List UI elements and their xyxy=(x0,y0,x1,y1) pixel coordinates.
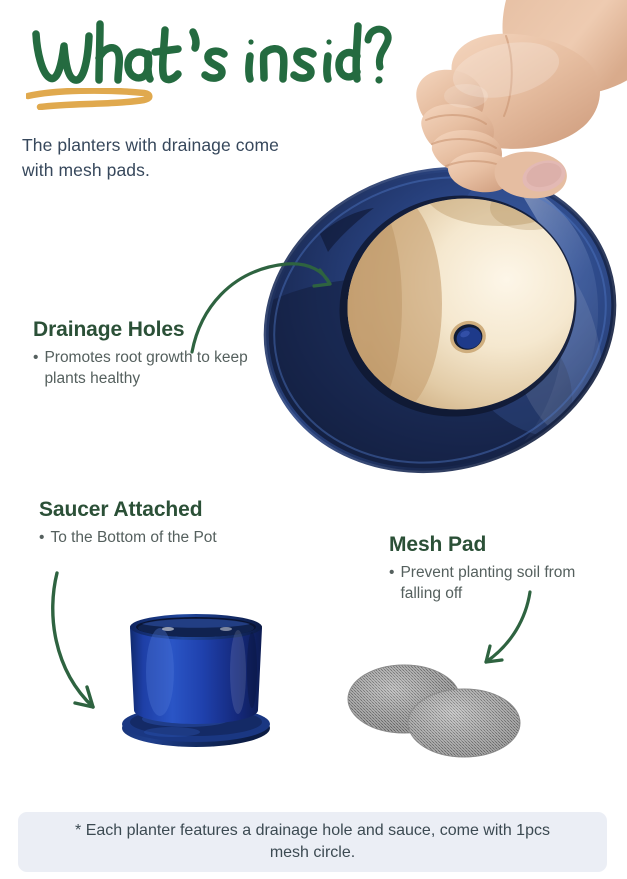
bullet-marker: • xyxy=(33,348,44,390)
bullet-text: Promotes root growth to keep plants heal… xyxy=(44,348,263,390)
subtitle: The planters with drainage come with mes… xyxy=(22,133,292,183)
feature-saucer-attached: Saucer Attached • To the Bottom of the P… xyxy=(39,498,269,549)
two-mesh-pad-circles-photo xyxy=(340,655,535,765)
feature-bullet: • Promotes root growth to keep plants he… xyxy=(33,348,263,390)
title-underline-squiggle xyxy=(26,88,156,110)
bullet-marker: • xyxy=(39,528,50,549)
bullet-marker: • xyxy=(389,563,400,605)
hand-gripping-rim-photo xyxy=(356,0,627,225)
feature-bullet: • To the Bottom of the Pot xyxy=(39,528,269,549)
bullet-text: To the Bottom of the Pot xyxy=(50,528,269,549)
footnote-banner: * Each planter features a drainage hole … xyxy=(18,812,607,872)
footnote-text: * Each planter features a drainage hole … xyxy=(58,820,567,864)
page-title xyxy=(28,22,358,92)
blue-planter-with-attached-saucer-photo xyxy=(108,598,283,750)
feature-heading: Mesh Pad xyxy=(389,533,599,557)
feature-heading: Drainage Holes xyxy=(33,318,263,342)
infographic-page: The planters with drainage come with mes… xyxy=(0,0,627,879)
feature-heading: Saucer Attached xyxy=(39,498,269,522)
feature-drainage-holes: Drainage Holes • Promotes root growth to… xyxy=(33,318,263,390)
